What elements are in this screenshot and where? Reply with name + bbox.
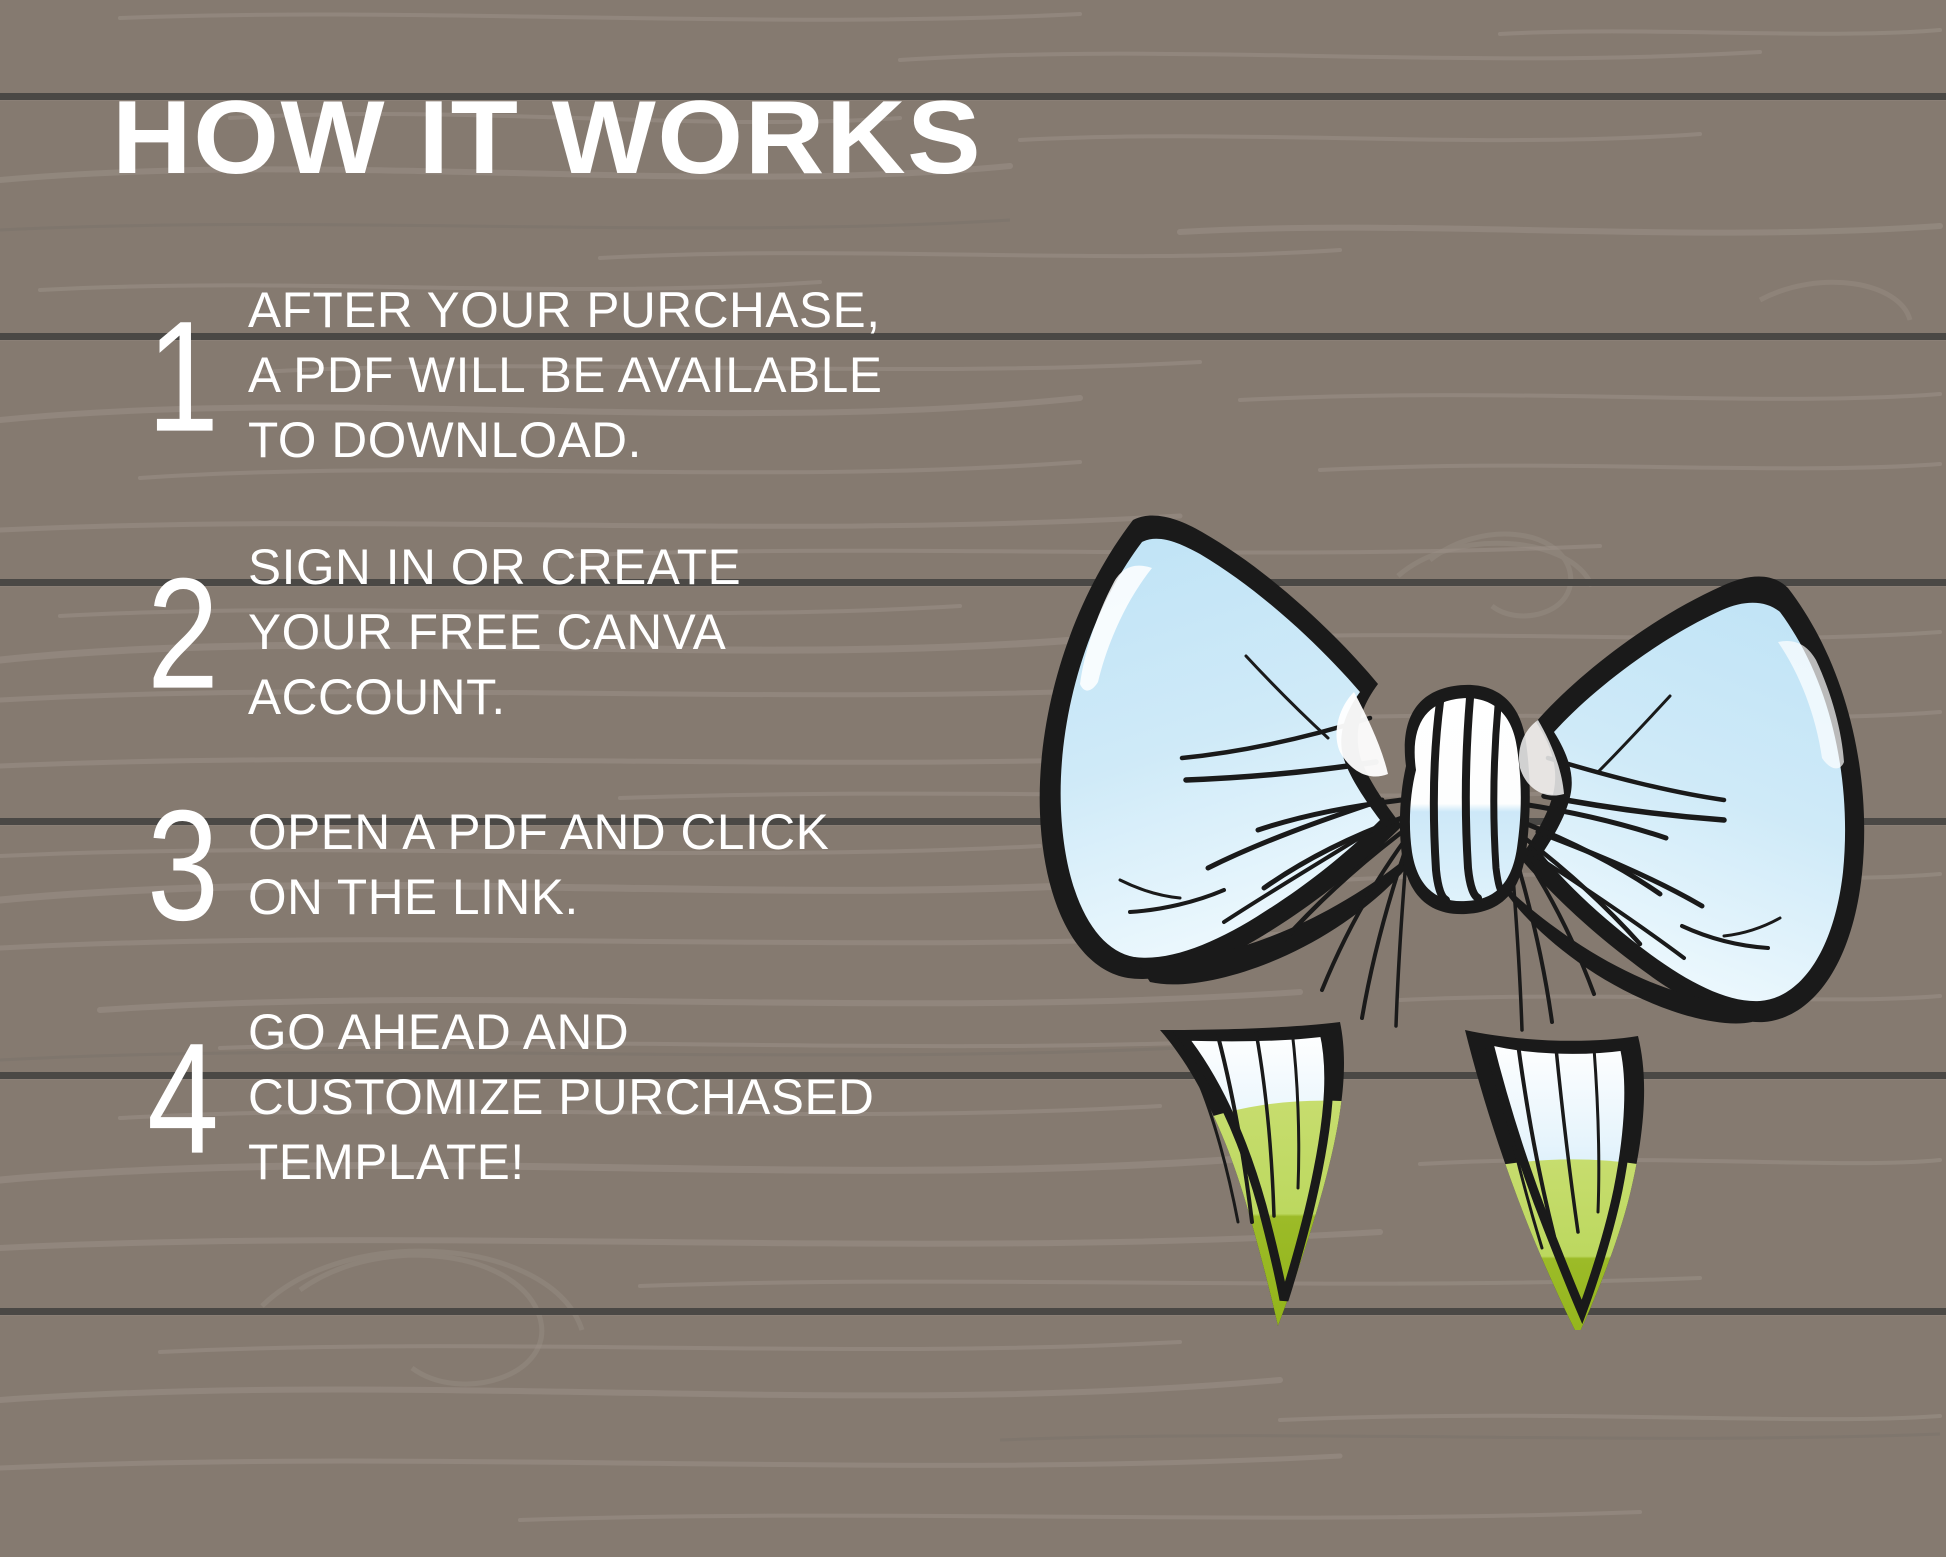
- step-text-2: SIGN IN OR CREATE YOUR FREE CANVA ACCOUN…: [248, 535, 741, 730]
- bow-right-loop: [1496, 577, 1864, 1024]
- bow-right-tail: [1430, 1030, 1690, 1330]
- step-item-1: 1 AFTER YOUR PURCHASE, A PDF WILL BE AVA…: [118, 278, 889, 473]
- step-item-3: 3 OPEN A PDF AND CLICK ON THE LINK.: [118, 790, 835, 940]
- step-item-4: 4 GO AHEAD AND CUSTOMIZE PURCHASED TEMPL…: [118, 1000, 881, 1195]
- step-text-1: AFTER YOUR PURCHASE, A PDF WILL BE AVAIL…: [248, 278, 883, 473]
- bow-knot: [1400, 685, 1530, 914]
- step-number-1: 1: [127, 297, 239, 455]
- step-text-3: OPEN A PDF AND CLICK ON THE LINK.: [248, 800, 829, 930]
- ribbon-bow-illustration: [1010, 470, 1910, 1330]
- poster-canvas: HOW IT WORKS 1 AFTER YOUR PURCHASE, A PD…: [0, 0, 1946, 1557]
- step-number-4: 4: [127, 1019, 239, 1177]
- step-item-2: 2 SIGN IN OR CREATE YOUR FREE CANVA ACCO…: [118, 535, 746, 730]
- bow-left-tail: [1130, 1022, 1370, 1330]
- step-text-4: GO AHEAD AND CUSTOMIZE PURCHASED TEMPLAT…: [248, 1000, 874, 1195]
- step-number-2: 2: [127, 554, 239, 712]
- page-title: HOW IT WORKS: [112, 86, 982, 190]
- step-number-3: 3: [127, 786, 239, 944]
